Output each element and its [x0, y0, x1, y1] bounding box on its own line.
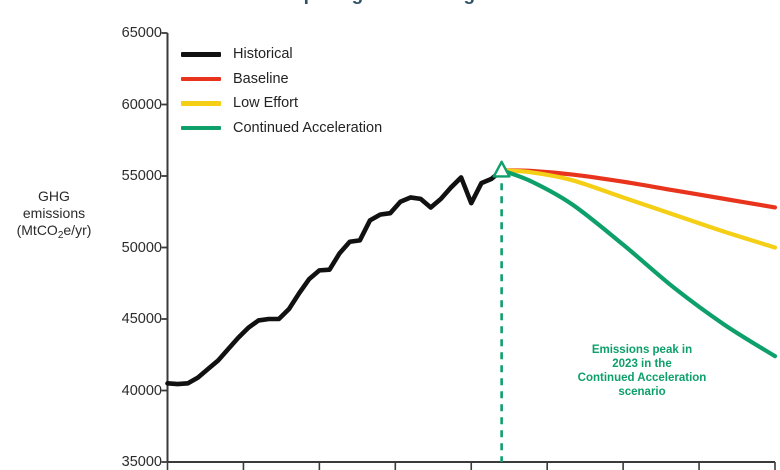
y-axis-unit-pre: (MtCO [17, 222, 58, 238]
y-tick-label: 50000 [104, 240, 162, 256]
legend-swatch-icon [181, 126, 221, 131]
y-axis-unit-post: e/yr) [63, 222, 91, 238]
legend-item-label: Low Effort [233, 95, 298, 111]
y-axis-unit-subscript: 2 [58, 230, 64, 241]
y-axis-title-line1: GHG [0, 188, 108, 205]
chart-title: lead to peak greenhouse gas emissions in… [150, 0, 750, 5]
ghg-emissions-chart: lead to peak greenhouse gas emissions in… [0, 0, 780, 470]
peak-annotation: Emissions peak in 2023 in the Continued … [562, 343, 722, 399]
legend-item-label: Continued Acceleration [233, 120, 382, 136]
legend-item-label: Historical [233, 46, 293, 62]
legend-swatch-icon [181, 52, 221, 57]
legend-swatch-icon [181, 77, 221, 82]
chart-legend: HistoricalBaselineLow EffortContinued Ac… [181, 42, 382, 140]
y-tick-label: 65000 [104, 25, 162, 41]
legend-item-label: Baseline [233, 71, 289, 87]
y-tick-label: 45000 [104, 311, 162, 327]
y-tick-label: 40000 [104, 383, 162, 399]
series-line-low-effort [502, 170, 775, 247]
y-axis-title: GHG emissions (MtCO2e/yr) [0, 188, 108, 241]
y-axis-tick-labels: 35000400004500050000550006000065000 [104, 0, 162, 470]
y-tick-label: 60000 [104, 97, 162, 113]
legend-item-baseline[interactable]: Baseline [181, 67, 382, 92]
legend-item-historical[interactable]: Historical [181, 42, 382, 67]
series-line-continued-acceleration [502, 170, 775, 356]
y-tick-label: 35000 [104, 454, 162, 470]
legend-item-low-effort[interactable]: Low Effort [181, 91, 382, 116]
y-axis-title-line3: (MtCO2e/yr) [0, 222, 108, 241]
y-tick-label: 55000 [104, 168, 162, 184]
series-line-historical [168, 170, 502, 384]
y-axis-title-line2: emissions [0, 205, 108, 222]
legend-swatch-icon [181, 101, 221, 106]
legend-item-continued-acceleration[interactable]: Continued Acceleration [181, 116, 382, 141]
